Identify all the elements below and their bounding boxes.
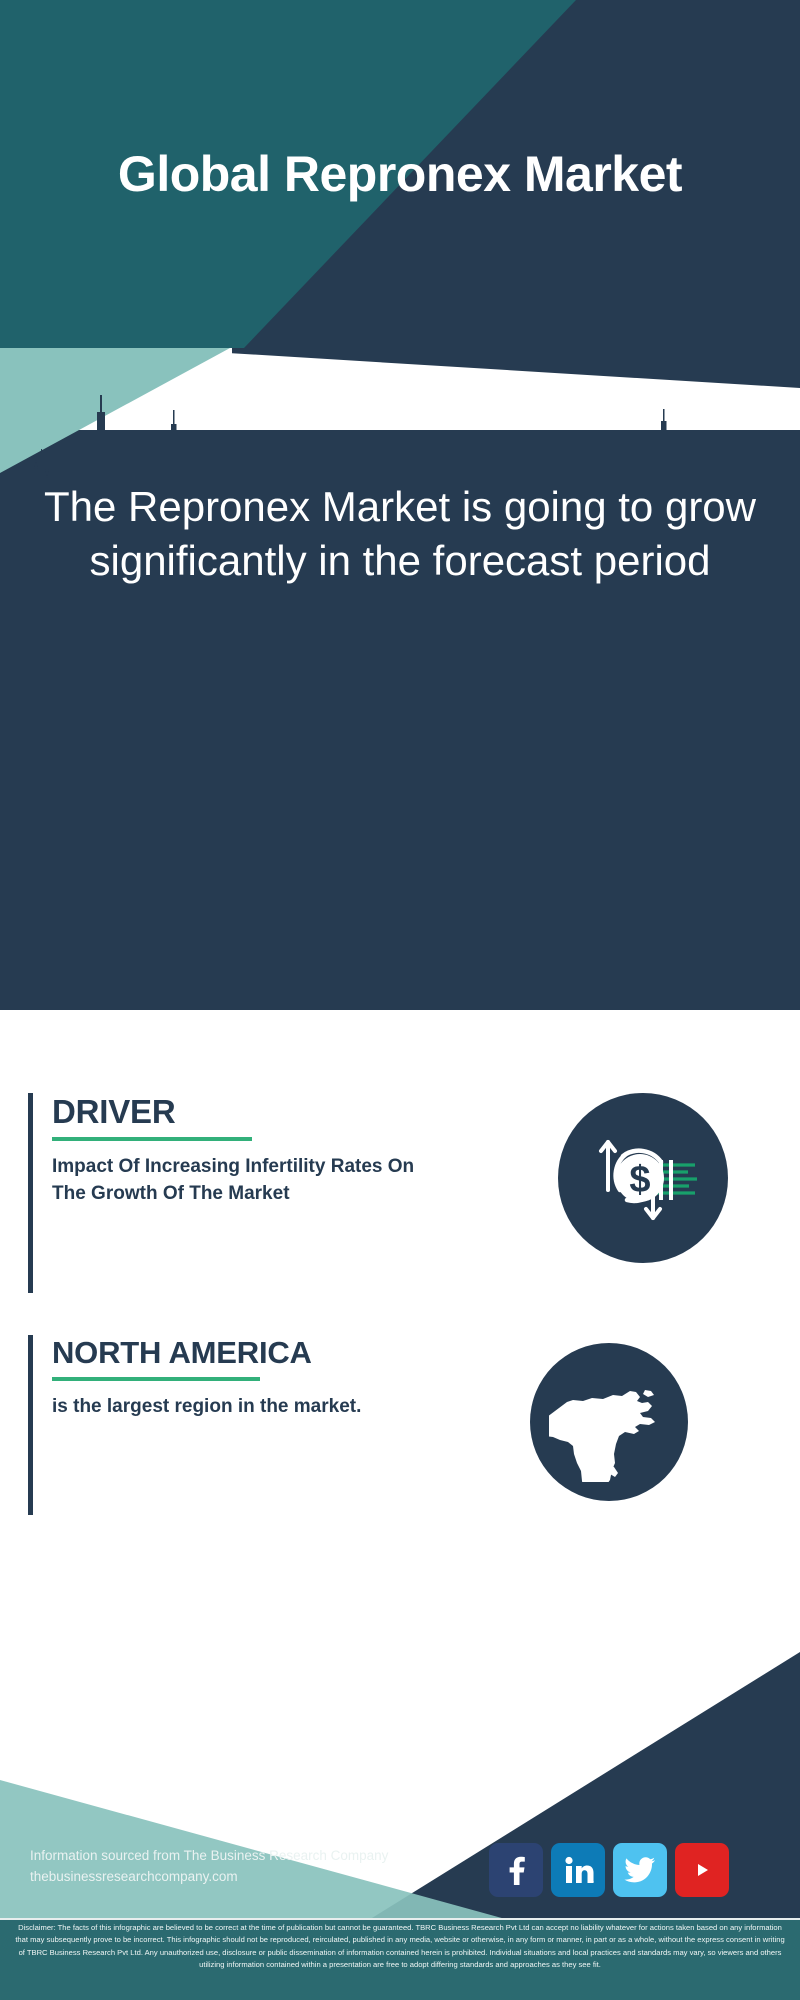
footer-credit: Information sourced from The Business Re… <box>30 1846 460 1888</box>
region-block: NORTH AMERICA is the largest region in t… <box>28 1335 428 1515</box>
hero-tagline: The Repronex Market is going to grow sig… <box>40 480 760 588</box>
region-underline <box>52 1377 260 1381</box>
youtube-icon[interactable] <box>675 1843 729 1897</box>
infographic-page: Global Repronex Market The Repronex Mark… <box>0 0 800 2000</box>
svg-text:$: $ <box>629 1159 650 1201</box>
social-links: ™ <box>489 1843 729 1897</box>
twitter-icon[interactable] <box>613 1843 667 1897</box>
driver-block: DRIVER Impact Of Increasing Infertility … <box>28 1093 428 1293</box>
driver-body: Impact Of Increasing Infertility Rates O… <box>52 1154 428 1208</box>
facebook-icon[interactable] <box>489 1843 543 1897</box>
dollar-growth-arrows-icon: $ <box>558 1093 728 1263</box>
linkedin-icon[interactable]: ™ <box>551 1843 605 1897</box>
region-body: is the largest region in the market. <box>52 1394 361 1421</box>
page-title: Global Repronex Market <box>0 0 800 348</box>
svg-text:™: ™ <box>593 1880 594 1885</box>
north-america-map-icon <box>530 1343 688 1501</box>
region-heading: NORTH AMERICA <box>52 1337 361 1368</box>
disclaimer-text: Disclaimer: The facts of this infographi… <box>12 1922 788 1971</box>
footer-credit-line1: Information sourced from The Business Re… <box>30 1846 460 1867</box>
footer-credit-line2[interactable]: thebusinessresearchcompany.com <box>30 1867 460 1888</box>
driver-heading: DRIVER <box>52 1095 428 1128</box>
driver-underline <box>52 1137 252 1141</box>
